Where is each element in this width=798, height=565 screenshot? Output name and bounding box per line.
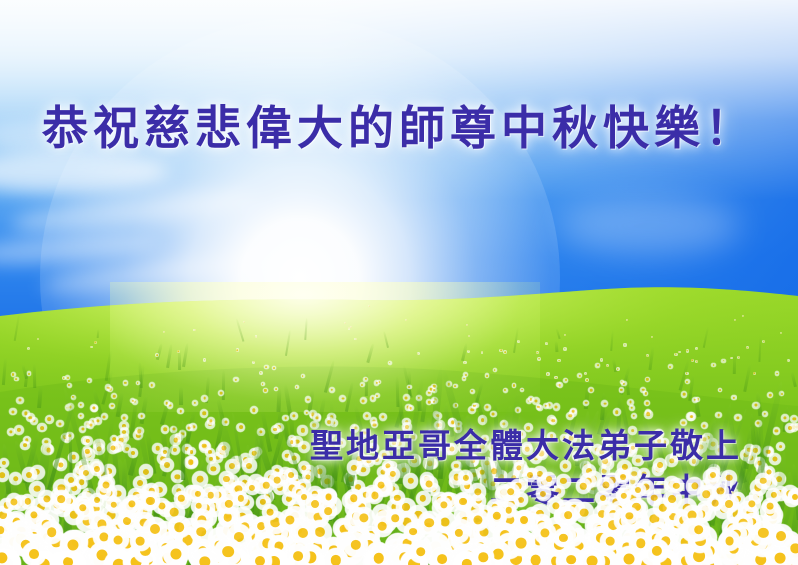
grass-blade bbox=[182, 343, 188, 367]
grass-blade bbox=[304, 318, 307, 340]
grass-blade bbox=[285, 330, 291, 356]
daisy-flower bbox=[651, 336, 653, 338]
daisy-flower bbox=[65, 375, 70, 380]
daisy-flower bbox=[695, 347, 698, 350]
daisy-flower bbox=[295, 385, 299, 389]
daisy-flower bbox=[250, 406, 258, 414]
daisy-flower bbox=[563, 378, 568, 383]
daisy-flower bbox=[9, 408, 16, 415]
daisy-flower bbox=[503, 350, 507, 354]
daisy-flower bbox=[343, 532, 368, 557]
grass-blade bbox=[703, 326, 710, 348]
daisy-flower bbox=[718, 388, 722, 392]
daisy-flower bbox=[242, 458, 256, 472]
daisy-flower bbox=[623, 343, 626, 346]
greeting-card: 恭祝慈悲偉大的師尊中秋快樂！ 聖地亞哥全體大法弟子敬上 二零二零年中秋 bbox=[0, 0, 798, 565]
daisy-flower bbox=[111, 393, 117, 399]
daisy-flower bbox=[570, 408, 577, 415]
daisy-flower bbox=[14, 425, 24, 435]
daisy-flower bbox=[368, 305, 370, 307]
daisy-flower bbox=[686, 349, 690, 353]
daisy-flower bbox=[190, 520, 213, 543]
daisy-flower bbox=[177, 350, 180, 353]
daisy-flower bbox=[536, 351, 539, 354]
daisy-flower bbox=[453, 384, 458, 389]
daisy-flower bbox=[626, 319, 628, 321]
daisy-flower bbox=[463, 372, 468, 377]
daisy-flower bbox=[184, 456, 197, 469]
daisy-flower bbox=[360, 397, 367, 404]
daisy-flower bbox=[583, 400, 589, 406]
daisy-flower bbox=[344, 322, 346, 324]
daisy-flower bbox=[541, 472, 555, 486]
greeting-headline: 恭祝慈悲偉大的師尊中秋快樂！ bbox=[0, 92, 798, 158]
daisy-flower bbox=[644, 400, 650, 406]
grass-blade bbox=[555, 328, 560, 339]
daisy-flower bbox=[243, 321, 245, 323]
daisy-flower bbox=[263, 388, 268, 393]
daisy-flower bbox=[248, 549, 272, 565]
daisy-flower bbox=[481, 351, 484, 354]
daisy-flower bbox=[78, 413, 84, 419]
daisy-flower bbox=[207, 417, 215, 425]
daisy-flower bbox=[417, 352, 420, 355]
daisy-flower bbox=[787, 359, 790, 362]
daisy-flower bbox=[345, 489, 363, 507]
daisy-flower bbox=[45, 415, 54, 424]
grass-blade-foreground bbox=[181, 421, 186, 480]
daisy-flower bbox=[286, 544, 309, 565]
daisy-flower bbox=[499, 349, 503, 353]
daisy-flower bbox=[7, 428, 15, 436]
daisy-flower bbox=[790, 415, 798, 423]
daisy-flower bbox=[681, 391, 687, 397]
daisy-flower bbox=[687, 412, 696, 421]
daisy-flower bbox=[426, 399, 432, 405]
daisy-flower bbox=[388, 361, 392, 365]
daisy-flower bbox=[559, 506, 577, 524]
daisy-flower bbox=[631, 413, 637, 419]
daisy-flower bbox=[493, 368, 497, 372]
daisy-flower bbox=[780, 332, 782, 334]
daisy-flower bbox=[416, 491, 431, 506]
daisy-flower bbox=[619, 387, 625, 393]
daisy-flower bbox=[354, 338, 356, 340]
daisy-flower bbox=[22, 467, 36, 481]
daisy-flower bbox=[577, 373, 582, 378]
daisy-flower bbox=[296, 490, 310, 504]
daisy-flower bbox=[472, 546, 494, 565]
daisy-flower bbox=[534, 522, 556, 544]
daisy-flower bbox=[678, 351, 681, 354]
daisy-flower bbox=[523, 468, 537, 482]
daisy-flower bbox=[261, 382, 265, 386]
daisy-flower bbox=[595, 491, 609, 505]
daisy-flower bbox=[485, 373, 490, 378]
daisy-flower bbox=[512, 383, 517, 388]
daisy-flower bbox=[203, 358, 207, 362]
daisy-flower bbox=[0, 458, 9, 468]
grass-blade bbox=[733, 353, 736, 374]
daisy-flower bbox=[236, 423, 245, 432]
daisy-flower bbox=[616, 546, 642, 565]
daisy-flower bbox=[556, 474, 571, 489]
daisy-flower bbox=[74, 499, 92, 517]
daisy-flower bbox=[56, 420, 63, 427]
daisy-flower bbox=[463, 361, 466, 364]
daisy-flower bbox=[390, 490, 405, 505]
daisy-flower bbox=[536, 404, 542, 410]
daisy-flower bbox=[631, 483, 646, 498]
daisy-flower bbox=[418, 511, 441, 534]
daisy-flower bbox=[272, 366, 277, 371]
daisy-flower bbox=[563, 347, 567, 351]
daisy-flower bbox=[20, 441, 29, 450]
daisy-flower bbox=[121, 414, 128, 421]
grass-blade bbox=[790, 371, 797, 387]
daisy-flower bbox=[282, 415, 288, 421]
daisy-flower bbox=[405, 319, 407, 321]
daisy-flower bbox=[557, 359, 561, 363]
daisy-flower bbox=[737, 356, 740, 359]
daisy-flower bbox=[168, 516, 191, 539]
daisy-flower bbox=[339, 395, 346, 402]
daisy-flower bbox=[645, 377, 651, 383]
daisy-flower bbox=[545, 342, 548, 345]
grass-blade bbox=[396, 376, 400, 407]
daisy-flower bbox=[762, 340, 765, 343]
daisy-flower bbox=[14, 377, 18, 381]
daisy-flower bbox=[685, 379, 690, 384]
grass-blade bbox=[648, 346, 654, 370]
daisy-flower bbox=[161, 425, 169, 433]
daisy-flower bbox=[143, 517, 167, 541]
daisy-flower bbox=[27, 371, 32, 376]
daisy-flower bbox=[746, 346, 749, 349]
daisy-flower bbox=[83, 436, 93, 446]
daisy-flower bbox=[259, 371, 263, 375]
daisy-flower bbox=[668, 364, 673, 369]
daisy-flower bbox=[606, 364, 609, 367]
daisy-flower bbox=[123, 495, 140, 512]
daisy-flower bbox=[775, 371, 779, 375]
daisy-flower bbox=[466, 324, 468, 326]
daisy-flower bbox=[767, 392, 773, 398]
daisy-flower bbox=[468, 335, 471, 338]
daisy-flower bbox=[201, 395, 207, 401]
daisy-flower bbox=[109, 403, 115, 409]
daisy-flower bbox=[520, 388, 524, 392]
grass-blade bbox=[383, 331, 389, 348]
grass-blade bbox=[555, 341, 558, 352]
daisy-flower bbox=[11, 372, 16, 377]
daisy-flower bbox=[584, 372, 587, 375]
daisy-flower bbox=[408, 405, 414, 411]
daisy-flower bbox=[785, 423, 795, 433]
daisy-flower bbox=[374, 380, 379, 385]
daisy-flower bbox=[674, 353, 677, 356]
daisy-flower bbox=[347, 460, 362, 475]
daisy-flower bbox=[329, 387, 335, 393]
daisy-flower bbox=[621, 507, 638, 524]
grass-blade bbox=[2, 357, 7, 385]
daisy-flower bbox=[136, 381, 140, 385]
daisy-flower bbox=[16, 397, 23, 404]
daisy-flower bbox=[164, 400, 170, 406]
grass-blade bbox=[166, 343, 172, 367]
daisy-flower bbox=[753, 372, 756, 375]
daisy-flower bbox=[403, 394, 410, 401]
grass-blade bbox=[13, 313, 19, 341]
daisy-flower bbox=[37, 423, 46, 432]
grass-blade bbox=[33, 363, 37, 388]
daisy-flower bbox=[646, 354, 649, 357]
daisy-flower bbox=[595, 363, 600, 368]
daisy-flower bbox=[214, 538, 242, 565]
daisy-flower bbox=[255, 335, 258, 338]
grass-blade bbox=[37, 385, 42, 408]
daisy-flower bbox=[421, 476, 438, 493]
daisy-flower bbox=[458, 470, 473, 485]
daisy-flower bbox=[200, 409, 209, 418]
daisy-flower bbox=[363, 377, 368, 382]
daisy-flower bbox=[469, 483, 487, 501]
daisy-flower bbox=[721, 359, 725, 363]
daisy-flower bbox=[101, 413, 108, 420]
daisy-flower bbox=[472, 403, 478, 409]
daisy-flower bbox=[588, 387, 594, 393]
daisy-flower bbox=[734, 319, 736, 321]
daisy-flower bbox=[22, 410, 30, 418]
daisy-flower bbox=[663, 490, 682, 509]
daisy-flower bbox=[467, 350, 470, 353]
daisy-flower bbox=[62, 376, 66, 380]
daisy-flower bbox=[90, 346, 93, 349]
daisy-flower bbox=[553, 403, 560, 410]
daisy-flower bbox=[501, 483, 519, 501]
daisy-flower bbox=[233, 377, 239, 383]
daisy-flower bbox=[149, 382, 155, 388]
daisy-flower bbox=[742, 315, 744, 317]
daisy-flower bbox=[788, 490, 798, 504]
daisy-flower bbox=[123, 380, 129, 386]
daisy-flower bbox=[297, 425, 307, 435]
daisy-flower bbox=[193, 329, 195, 331]
daisy-flower bbox=[773, 427, 781, 435]
daisy-flower bbox=[373, 477, 389, 493]
daisy-flower bbox=[407, 385, 412, 390]
daisy-flower bbox=[94, 341, 97, 344]
signature-sender: 聖地亞哥全體大法弟子敬上 bbox=[310, 424, 742, 469]
daisy-flower bbox=[706, 467, 720, 481]
daisy-flower bbox=[755, 473, 771, 489]
daisy-flower bbox=[105, 384, 111, 390]
daisy-flower bbox=[600, 358, 604, 362]
grass-blade bbox=[179, 386, 183, 405]
daisy-flower bbox=[503, 388, 508, 393]
daisy-flower bbox=[409, 540, 432, 563]
grass-blade bbox=[140, 394, 149, 423]
daisy-flower bbox=[564, 334, 566, 336]
daisy-flower bbox=[163, 540, 189, 565]
daisy-flower bbox=[233, 491, 248, 506]
grass-blade bbox=[611, 329, 615, 350]
daisy-flower bbox=[691, 359, 695, 363]
daisy-flower bbox=[751, 521, 775, 545]
daisy-flower bbox=[87, 378, 92, 383]
daisy-flower bbox=[379, 413, 387, 421]
daisy-flower bbox=[67, 383, 72, 388]
daisy-flower bbox=[236, 348, 240, 352]
daisy-flower bbox=[430, 547, 453, 565]
daisy-flower bbox=[546, 372, 550, 376]
daisy-flower bbox=[532, 397, 539, 404]
grass-blade bbox=[743, 363, 751, 392]
daisy-flower bbox=[27, 347, 30, 350]
daisy-flower bbox=[462, 376, 466, 380]
daisy-flower bbox=[264, 365, 269, 370]
daisy-flower bbox=[290, 412, 298, 420]
daisy-flower bbox=[252, 361, 255, 364]
daisy-flower bbox=[585, 378, 589, 382]
daisy-flower bbox=[350, 326, 352, 328]
daisy-flower bbox=[711, 363, 715, 367]
daisy-flower bbox=[685, 372, 689, 376]
daisy-flower bbox=[557, 382, 563, 388]
daisy-flower bbox=[191, 498, 207, 514]
daisy-flower bbox=[576, 478, 591, 493]
grass-blade bbox=[156, 343, 163, 360]
daisy-flower bbox=[301, 374, 305, 378]
daisy-flower bbox=[776, 442, 785, 451]
grass-blade bbox=[345, 381, 355, 412]
grass-blade bbox=[24, 367, 29, 388]
daisy-flower bbox=[192, 400, 198, 406]
daisy-flower bbox=[517, 340, 520, 343]
grass-blade bbox=[366, 343, 374, 363]
daisy-flower bbox=[616, 367, 620, 371]
daisy-flower bbox=[554, 376, 558, 380]
daisy-flower bbox=[22, 542, 46, 565]
daisy-flower bbox=[60, 531, 86, 557]
daisy-flower bbox=[537, 357, 541, 361]
daisy-flower bbox=[515, 510, 534, 529]
daisy-flower bbox=[163, 331, 165, 333]
daisy-flower bbox=[37, 338, 39, 340]
daisy-flower bbox=[627, 399, 634, 406]
daisy-flower bbox=[78, 402, 84, 408]
daisy-flower bbox=[781, 414, 789, 422]
daisy-flower bbox=[695, 360, 698, 363]
daisy-flower bbox=[470, 389, 475, 394]
daisy-flower bbox=[467, 509, 489, 531]
daisy-flower bbox=[79, 465, 94, 480]
grass-blade bbox=[408, 371, 411, 396]
daisy-flower bbox=[621, 381, 627, 387]
daisy-flower bbox=[284, 468, 298, 482]
daisy-flower bbox=[644, 410, 653, 419]
daisy-flower bbox=[692, 397, 698, 403]
daisy-flower bbox=[543, 403, 549, 409]
grass-blade bbox=[97, 329, 100, 338]
daisy-flower bbox=[305, 396, 311, 402]
daisy-flower bbox=[731, 395, 737, 401]
daisy-flower bbox=[508, 530, 534, 556]
daisy-flower bbox=[403, 473, 418, 488]
